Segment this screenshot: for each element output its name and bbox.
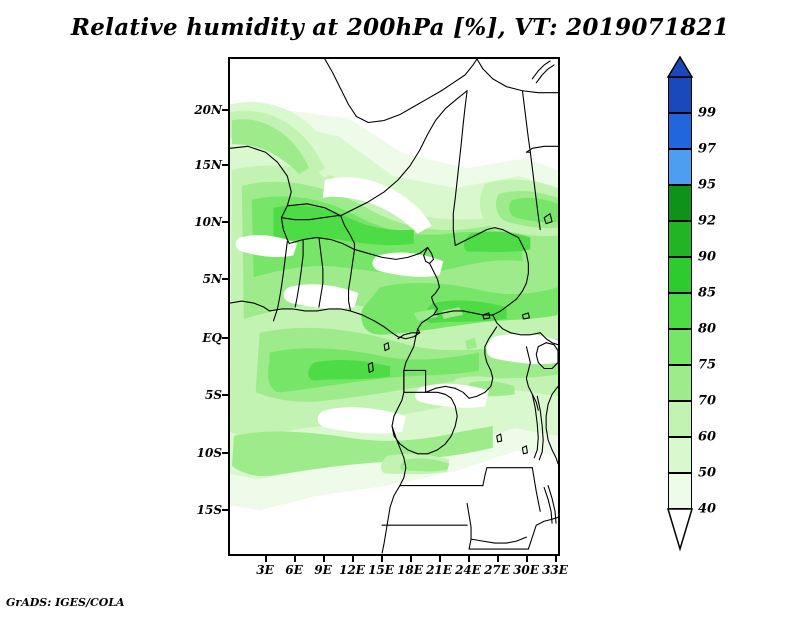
ytick-label-15S: 15S [178,503,222,517]
xtick-label-18E: 18E [397,563,423,577]
colorbar-band-40 [668,473,692,509]
xtick-mark-3E [265,556,267,562]
colorbar-band-92 [668,185,692,221]
ytick-mark-5S [222,394,228,396]
ytick-mark-10S [222,452,228,454]
colorbar-band-95 [668,149,692,185]
humidity-field [230,102,558,510]
colorbar-label-75: 75 [698,358,716,373]
map-plot-area [228,57,560,556]
xtick-mark-6E [294,556,296,562]
colorbar-label-97: 97 [698,142,716,157]
xtick-mark-27E [497,556,499,562]
colorbar-label-50: 50 [698,466,716,481]
ytick-mark-20N [222,109,228,111]
ytick-label-5N: 5N [178,272,222,286]
colorbar-label-95: 95 [698,178,716,193]
colorbar-band-90 [668,221,692,257]
colorbar-label-85: 85 [698,286,716,301]
colorbar-band-70 [668,365,692,401]
colorbar-band-75 [668,329,692,365]
colorbar-band-85 [668,257,692,293]
ytick-mark-15N [222,164,228,166]
xtick-label-12E: 12E [339,563,365,577]
colorbar-over-arrow [668,57,692,77]
colorbar-label-92: 92 [698,214,716,229]
xtick-label-21E: 21E [426,563,452,577]
ytick-label-20N: 20N [178,103,222,117]
grads-credit: GrADS: IGES/COLA [6,596,125,609]
map-canvas [230,59,558,554]
ytick-mark-EQ [222,337,228,339]
colorbar-band-99 [668,77,692,113]
colorbar-band-60 [668,401,692,437]
ytick-mark-15S [222,509,228,511]
xtick-label-33E: 33E [542,563,568,577]
xtick-label-27E: 27E [484,563,510,577]
ytick-label-EQ: EQ [178,331,222,345]
colorbar-label-80: 80 [698,322,716,337]
colorbar-label-60: 60 [698,430,716,445]
colorbar-label-90: 90 [698,250,716,265]
xtick-label-3E: 3E [256,563,274,577]
colorbar: 99 97 95 92 90 85 80 75 70 60 50 40 [668,75,692,545]
page-title: Relative humidity at 200hPa [%], VT: 201… [0,14,800,41]
ytick-label-10N: 10N [178,215,222,229]
xtick-mark-9E [323,556,325,562]
ytick-label-10S: 10S [178,446,222,460]
colorbar-label-99: 99 [698,106,716,121]
xtick-mark-30E [526,556,528,562]
xtick-mark-33E [555,556,557,562]
colorbar-under-arrow [668,509,692,549]
xtick-label-9E: 9E [314,563,332,577]
colorbar-label-40: 40 [698,502,716,517]
xtick-label-30E: 30E [513,563,539,577]
ytick-label-5S: 5S [178,388,222,402]
colorbar-band-50 [668,437,692,473]
xtick-label-15E: 15E [368,563,394,577]
xtick-mark-15E [381,556,383,562]
xtick-label-6E: 6E [285,563,303,577]
xtick-mark-21E [439,556,441,562]
colorbar-label-70: 70 [698,394,716,409]
ytick-label-15N: 15N [178,158,222,172]
xtick-mark-12E [352,556,354,562]
xtick-mark-18E [410,556,412,562]
ytick-mark-5N [222,278,228,280]
colorbar-band-97 [668,113,692,149]
colorbar-band-80 [668,293,692,329]
xtick-label-24E: 24E [455,563,481,577]
ytick-mark-10N [222,221,228,223]
xtick-mark-24E [468,556,470,562]
